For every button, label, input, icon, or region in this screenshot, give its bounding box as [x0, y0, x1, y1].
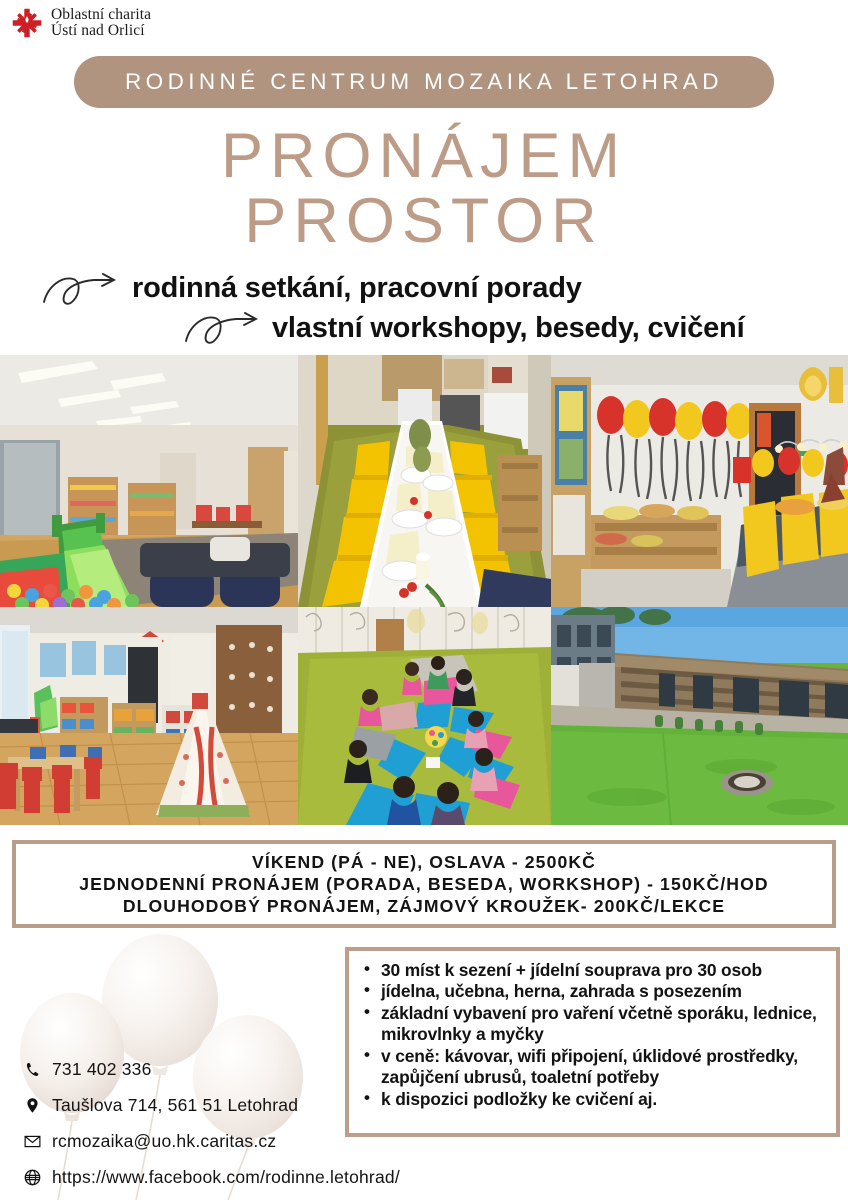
poster-root: Oblastní charita Ústí nad Orlicí RODINNÉ…: [0, 0, 848, 1200]
photo-party-room-with-balloons-number-ten: [551, 355, 848, 607]
title-line-1: PRONÁJEM: [0, 124, 848, 189]
contact-block: 731 402 336 Taušlova 714, 561 51 Letohra…: [24, 1053, 354, 1197]
organization-name-line2: Ústí nad Orlicí: [51, 23, 151, 39]
contact-address[interactable]: Taušlova 714, 561 51 Letohrad: [24, 1089, 354, 1122]
photo-playroom-with-slide-and-ball-pit: [0, 355, 298, 607]
price-line-1: VÍKEND (PÁ - NE), OSLAVA - 2500KČ: [252, 852, 596, 873]
phone-icon: [24, 1061, 41, 1078]
subtitle-line-2: vlastní workshopy, besedy, cvičení: [272, 312, 744, 345]
contact-email-value: rcmozaika@uo.hk.caritas.cz: [52, 1131, 276, 1152]
contact-address-value: Taušlova 714, 561 51 Letohrad: [52, 1095, 298, 1116]
list-item: v ceně: kávovar, wifi připojení, úklidov…: [361, 1046, 826, 1089]
organization-logo: Oblastní charita Ústí nad Orlicí: [10, 6, 151, 40]
features-box: 30 míst k sezení + jídelní souprava pro …: [345, 947, 840, 1137]
price-line-2: JEDNODENNÍ PRONÁJEM (PORADA, BESEDA, WOR…: [79, 874, 768, 895]
list-item: 30 míst k sezení + jídelní souprava pro …: [361, 960, 826, 981]
features-list: 30 míst k sezení + jídelní souprava pro …: [361, 960, 826, 1110]
subtitle-line-1: rodinná setkání, pracovní porady: [132, 272, 582, 305]
contact-website-value: https://www.facebook.com/rodinne.letohra…: [52, 1167, 400, 1188]
photo-exercise-class-on-mats: [298, 607, 551, 825]
price-line-3: DLOUHODOBÝ PRONÁJEM, ZÁJMOVÝ KROUŽEK- 20…: [123, 896, 725, 917]
banner-label: RODINNÉ CENTRUM MOZAIKA LETOHRAD: [125, 69, 723, 95]
list-item: jídelna, učebna, herna, zahrada s poseze…: [361, 981, 826, 1002]
photo-classroom-with-tables-and-teepee: [0, 607, 298, 825]
page-title: PRONÁJEM PROSTOR: [0, 124, 848, 254]
organization-name: Oblastní charita Ústí nad Orlicí: [51, 7, 151, 39]
organization-name-line1: Oblastní charita: [51, 7, 151, 23]
photo-long-dining-table-with-yellow-chairs: [298, 355, 551, 607]
photo-garden-with-lawn-and-building: [551, 607, 848, 825]
envelope-icon: [24, 1133, 41, 1150]
list-item: základní vybavení pro vaření včetně spor…: [361, 1003, 826, 1046]
location-pin-icon: [24, 1097, 41, 1114]
caritas-flame-cross-icon: [10, 6, 44, 40]
curly-arrow-icon: [182, 307, 274, 353]
pricing-box: VÍKEND (PÁ - NE), OSLAVA - 2500KČ JEDNOD…: [12, 840, 836, 928]
contact-email[interactable]: rcmozaika@uo.hk.caritas.cz: [24, 1125, 354, 1158]
title-line-2: PROSTOR: [0, 189, 848, 254]
contact-website[interactable]: https://www.facebook.com/rodinne.letohra…: [24, 1161, 494, 1194]
globe-icon: [24, 1169, 41, 1186]
curly-arrow-icon: [40, 268, 132, 314]
list-item: k dispozici podložky ke cvičení aj.: [361, 1089, 826, 1110]
contact-phone-value: 731 402 336: [52, 1059, 152, 1080]
center-name-banner: RODINNÉ CENTRUM MOZAIKA LETOHRAD: [74, 56, 774, 108]
contact-phone[interactable]: 731 402 336: [24, 1053, 354, 1086]
photo-gallery: [0, 355, 848, 825]
